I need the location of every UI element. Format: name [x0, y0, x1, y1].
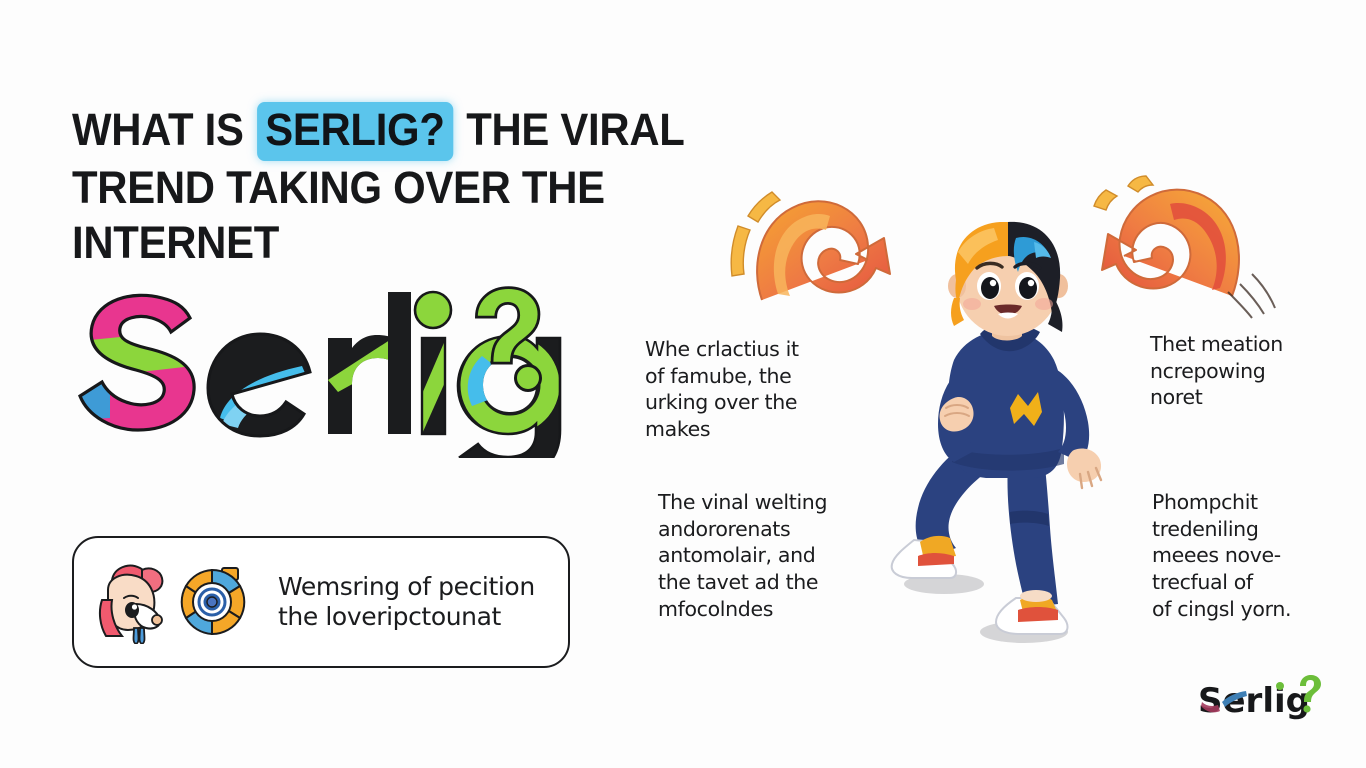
brand-mark-text: Serlig	[1198, 681, 1310, 721]
blurb-top-left: Whe crlactius it of famube, the urking o…	[645, 336, 880, 443]
wordmark-letter-i	[415, 292, 451, 436]
info-card-text: Wemsring of pecition the loveripctounat	[278, 572, 550, 633]
headline-highlight-serlig: SERLIG?	[257, 102, 453, 161]
blurb-bottom-left: The vinal welting andororenats antomolai…	[658, 489, 893, 622]
info-card[interactable]: Wemsring of pecition the loveripctounat	[72, 536, 570, 668]
wordmark-letter-e	[200, 328, 320, 443]
serlig-wordmark-large	[70, 268, 590, 458]
blurb-bottom-right: Phompchit tredeniling meees nove- trecfu…	[1152, 489, 1366, 622]
serlig-brand-mark-small: Serlig	[1196, 672, 1322, 728]
target-wheel-icon	[174, 560, 250, 644]
wordmark-question-mark	[476, 288, 540, 391]
dancing-kid-character	[858, 212, 1152, 644]
blurb-top-right: Thet meation ncrepowing noret	[1150, 331, 1365, 411]
headline-before: WHAT IS	[72, 104, 255, 155]
info-card-icons	[92, 560, 250, 644]
poster-canvas: WHAT IS SERLIG? THE VIRAL TREND TAKING O…	[0, 0, 1366, 768]
fox-mascot-icon	[92, 560, 168, 644]
wordmark-letter-l	[388, 292, 411, 434]
page-headline: WHAT IS SERLIG? THE VIRAL TREND TAKING O…	[72, 102, 742, 271]
